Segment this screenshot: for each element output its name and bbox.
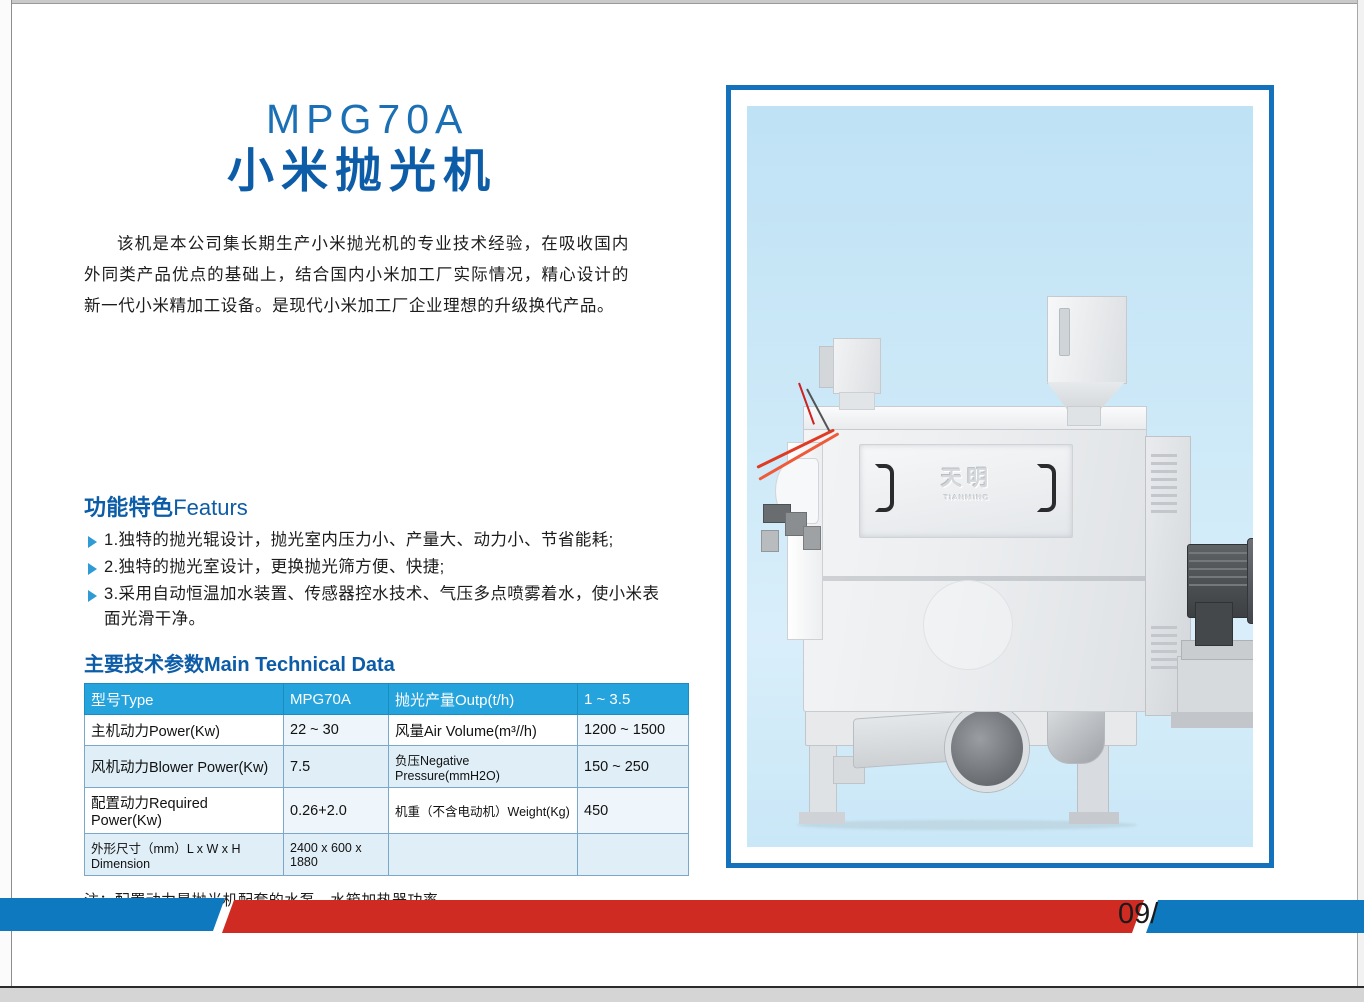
feature-text: 1.独特的抛光辊设计，抛光室内压力小、产量大、动力小、节省能耗; bbox=[104, 528, 614, 553]
valve-assembly bbox=[761, 530, 779, 552]
banner-bar-blue-right bbox=[1146, 900, 1364, 933]
duct-flange bbox=[945, 704, 1029, 792]
scan-edge-right bbox=[1357, 0, 1364, 1002]
cell-label-right bbox=[389, 834, 578, 876]
cell-label-left: 风机动力Blower Power(Kw) bbox=[85, 746, 284, 788]
table-row: 主机动力Power(Kw) 22 ~ 30 风量Air Volume(m³//h… bbox=[85, 715, 689, 746]
brand-name-cn: 天明 bbox=[917, 462, 1017, 492]
cell-value-right: 150 ~ 250 bbox=[578, 746, 689, 788]
louver-vent bbox=[1151, 494, 1177, 497]
secondary-duct bbox=[1047, 706, 1105, 764]
hopper-sight-slot bbox=[1059, 308, 1070, 356]
cell-value-right: 1200 ~ 1500 bbox=[578, 715, 689, 746]
louver-vent bbox=[1151, 658, 1177, 661]
cell-label-left: 外形尺寸（mm）L x W x H Dimension bbox=[85, 834, 284, 876]
scan-edge-top bbox=[0, 0, 1364, 4]
feature-item: 3.采用自动恒温加水装置、传感器控水技术、气压多点喷雾着水，使小米表面光滑干净。 bbox=[84, 582, 664, 632]
motor-cooling-fin bbox=[1189, 584, 1249, 586]
page-number: 09/ bbox=[1118, 898, 1158, 931]
louver-vent bbox=[1151, 666, 1177, 669]
cell-value-left: 7.5 bbox=[284, 746, 389, 788]
brand-name-en: TIANMING bbox=[917, 493, 1017, 502]
motor-terminal-box bbox=[1195, 602, 1233, 646]
louver-vent bbox=[1151, 510, 1177, 513]
motor-cooling-fin bbox=[1189, 560, 1249, 562]
machine-illustration: 天明 TIANMING bbox=[747, 106, 1253, 847]
cell-label-left: 型号Type bbox=[85, 684, 284, 715]
panel-handle-right bbox=[1037, 464, 1056, 512]
louver-vent bbox=[1151, 462, 1177, 465]
product-photo: 天明 TIANMING bbox=[747, 106, 1253, 847]
cell-label-right: 机重（不含电动机）Weight(Kg) bbox=[389, 788, 578, 834]
footer-banner: 09/ bbox=[0, 894, 1364, 940]
cell-label-left: 配置动力Required Power(Kw) bbox=[85, 788, 284, 834]
tech-data-heading-cn: 主要技术参数 bbox=[84, 654, 204, 676]
motor-stand bbox=[1177, 656, 1253, 718]
machine-foot-left bbox=[799, 812, 845, 824]
features-heading-en: Featurs bbox=[173, 495, 248, 520]
features-list: 1.独特的抛光辊设计，抛光室内压力小、产量大、动力小、节省能耗; 2.独特的抛光… bbox=[84, 528, 664, 632]
feature-text: 3.采用自动恒温加水装置、传感器控水技术、气压多点喷雾着水，使小米表面光滑干净。 bbox=[104, 582, 664, 632]
tech-data-heading: 主要技术参数Main Technical Data bbox=[84, 648, 642, 677]
upper-assembly-neck bbox=[839, 392, 875, 410]
product-photo-frame: 天明 TIANMING bbox=[726, 85, 1274, 868]
scan-edge-left bbox=[0, 0, 12, 1002]
tech-data-heading-en: Main Technical Data bbox=[204, 654, 395, 676]
feature-item: 2.独特的抛光室设计，更换抛光筛方便、快捷; bbox=[84, 555, 664, 580]
upper-assembly-box bbox=[833, 338, 881, 394]
table-row: 风机动力Blower Power(Kw) 7.5 负压Negative Pres… bbox=[85, 746, 689, 788]
cell-value-right: 1 ~ 3.5 bbox=[578, 684, 689, 715]
triangle-bullet-icon bbox=[88, 563, 97, 575]
triangle-bullet-icon bbox=[88, 590, 97, 602]
features-heading: 功能特色Featurs bbox=[84, 490, 664, 522]
product-name-title: 小米抛光机 bbox=[227, 145, 664, 199]
panel-handle-left bbox=[875, 464, 894, 512]
cell-value-left: 22 ~ 30 bbox=[284, 715, 389, 746]
cell-label-right: 负压Negative Pressure(mmH2O) bbox=[389, 746, 578, 788]
cell-label-left: 主机动力Power(Kw) bbox=[85, 715, 284, 746]
features-heading-cn: 功能特色 bbox=[84, 495, 173, 520]
product-description: 该机是本公司集长期生产小米抛光机的专业技术经验，在吸收国内外同类产品优点的基础上… bbox=[84, 229, 629, 322]
table-row-header: 型号Type MPG70A 抛光产量Outp(t/h) 1 ~ 3.5 bbox=[85, 684, 689, 715]
louver-vent bbox=[1151, 486, 1177, 489]
cell-value-right: 450 bbox=[578, 788, 689, 834]
triangle-bullet-icon bbox=[88, 536, 97, 548]
scan-edge-bottom bbox=[0, 986, 1364, 1002]
technical-data-table: 型号Type MPG70A 抛光产量Outp(t/h) 1 ~ 3.5 主机动力… bbox=[84, 683, 689, 876]
cell-value-left: 0.26+2.0 bbox=[284, 788, 389, 834]
brand-emblem: 天明 TIANMING bbox=[917, 462, 1017, 502]
catalog-page: MPG70A 小米抛光机 该机是本公司集长期生产小米抛光机的专业技术经验，在吸收… bbox=[0, 0, 1364, 1002]
product-model-title: MPG70A bbox=[266, 96, 664, 143]
cell-value-right bbox=[578, 834, 689, 876]
feature-text: 2.独特的抛光室设计，更换抛光筛方便、快捷; bbox=[104, 555, 445, 580]
table-row: 外形尺寸（mm）L x W x H Dimension 2400 x 600 x… bbox=[85, 834, 689, 876]
hopper-neck bbox=[1067, 406, 1101, 426]
banner-bar-blue-left bbox=[0, 898, 225, 931]
banner-bar-red bbox=[222, 900, 1144, 933]
table-row: 配置动力Required Power(Kw) 0.26+2.0 机重（不含电动机… bbox=[85, 788, 689, 834]
motor-cooling-fin bbox=[1189, 568, 1249, 570]
louver-vent bbox=[1151, 502, 1177, 505]
product-info-column: MPG70A 小米抛光机 该机是本公司集长期生产小米抛光机的专业技术经验，在吸收… bbox=[84, 96, 664, 322]
feature-item: 1.独特的抛光辊设计，抛光室内压力小、产量大、动力小、节省能耗; bbox=[84, 528, 664, 553]
cell-value-left: MPG70A bbox=[284, 684, 389, 715]
louver-vent bbox=[1151, 650, 1177, 653]
motor-fan-cover bbox=[1247, 538, 1253, 624]
motor-cooling-fin bbox=[1189, 552, 1249, 554]
motor-cooling-fin bbox=[1189, 576, 1249, 578]
features-section: 功能特色Featurs 1.独特的抛光辊设计，抛光室内压力小、产量大、动力小、节… bbox=[84, 490, 664, 634]
louver-vent bbox=[1151, 642, 1177, 645]
valve-assembly bbox=[803, 526, 821, 550]
motor-base bbox=[1171, 712, 1253, 728]
inspection-port bbox=[923, 580, 1013, 670]
louver-vent bbox=[1151, 626, 1177, 629]
louver-vent bbox=[1151, 478, 1177, 481]
louver-vent bbox=[1151, 634, 1177, 637]
cell-label-right: 抛光产量Outp(t/h) bbox=[389, 684, 578, 715]
cell-label-right: 风量Air Volume(m³//h) bbox=[389, 715, 578, 746]
machine-foot-right bbox=[1069, 812, 1119, 824]
cell-value-left: 2400 x 600 x 1880 bbox=[284, 834, 389, 876]
louver-vent bbox=[1151, 454, 1177, 457]
louver-vent bbox=[1151, 470, 1177, 473]
technical-data-section: 主要技术参数Main Technical Data 型号Type MPG70A … bbox=[84, 648, 642, 910]
